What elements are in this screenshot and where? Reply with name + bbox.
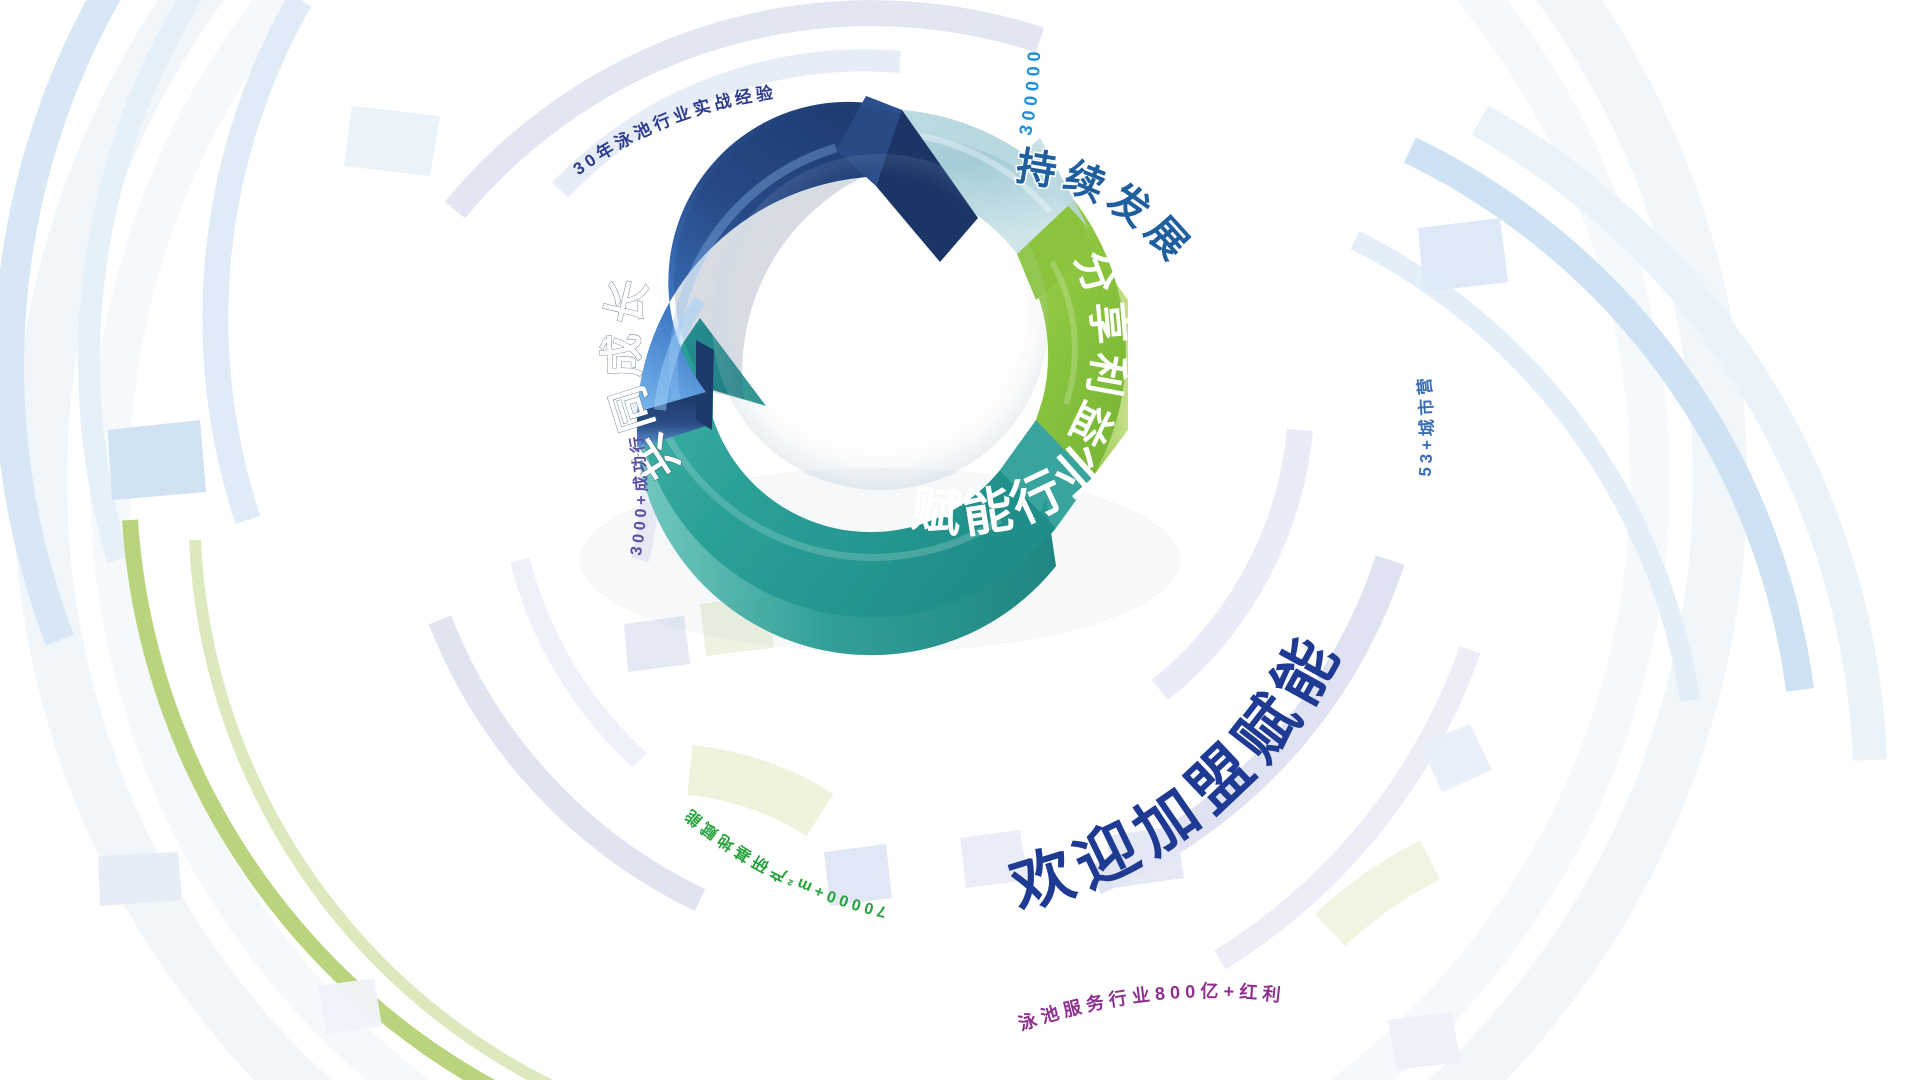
callout-market: 泳池服务行业800亿+红利 — [1016, 980, 1287, 1034]
poster-canvas: 共同成长 持续发展 分享利益 赋能行业 30年泳池行业实战经验 3000 — [0, 0, 1920, 1080]
svg-text:泳池服务行业800亿+红利: 泳池服务行业800亿+红利 — [1016, 980, 1287, 1034]
infographic-artwork: 共同成长 持续发展 分享利益 赋能行业 30年泳池行业实战经验 3000 — [0, 0, 1920, 1080]
